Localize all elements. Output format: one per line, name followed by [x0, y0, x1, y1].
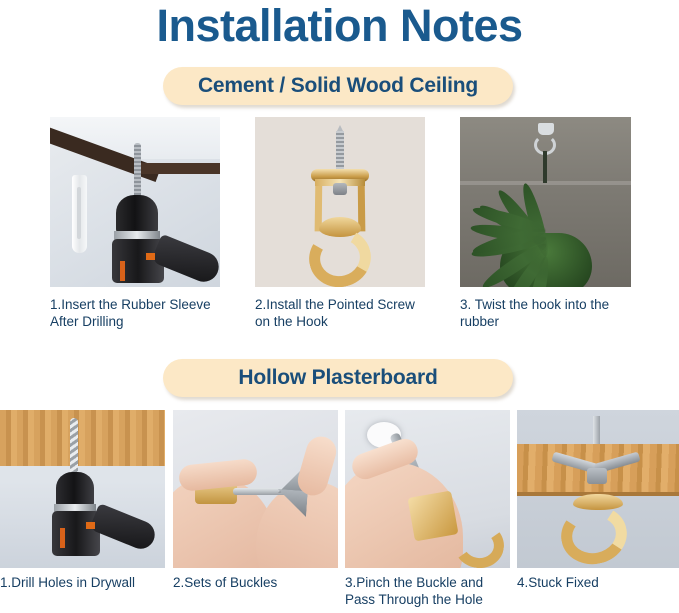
- gold-hook-curve: [556, 500, 633, 568]
- rubber-sleeve: [72, 175, 87, 253]
- step-caption-plasterboard-1: 1.Drill Holes in Drywall: [0, 574, 168, 591]
- plant-hanger-rod: [543, 151, 547, 183]
- step-image-plasterboard-1: [0, 410, 165, 568]
- step-caption-plasterboard-2: 2.Sets of Buckles: [173, 574, 338, 591]
- drill-accent-stripe: [60, 528, 65, 548]
- step-image-plasterboard-4: [517, 410, 679, 568]
- twist-drill-bit: [70, 418, 78, 476]
- drill-accent-stripe: [120, 261, 125, 281]
- step-image-cement-2: [255, 117, 425, 287]
- section-badge-cement-label: Cement / Solid Wood Ceiling: [198, 74, 478, 98]
- screw-bit: [134, 143, 141, 199]
- step-image-cement-1: [50, 117, 220, 287]
- page-title: Installation Notes: [0, 1, 679, 51]
- section-badge-plasterboard-label: Hollow Plasterboard: [238, 366, 437, 390]
- step-image-cement-3: [460, 117, 631, 287]
- drill-chuck: [56, 472, 94, 508]
- gold-hook-curve: [303, 222, 378, 287]
- step-caption-cement-3: 3. Twist the hook into the rubber: [460, 296, 640, 330]
- step-caption-plasterboard-4: 4.Stuck Fixed: [517, 574, 677, 591]
- hook-center-nut: [333, 183, 347, 195]
- step-image-plasterboard-2: [173, 410, 338, 568]
- drill-accent-trigger: [146, 253, 155, 260]
- section-badge-plasterboard: Hollow Plasterboard: [163, 359, 513, 397]
- step-image-plasterboard-3: [345, 410, 510, 568]
- step-caption-cement-1: 1.Insert the Rubber Sleeve After Drillin…: [50, 296, 230, 330]
- section-badge-cement: Cement / Solid Wood Ceiling: [163, 67, 513, 105]
- gold-hook-body: [408, 491, 459, 542]
- hanging-fern: [460, 182, 631, 287]
- ceiling-beam-horizontal: [136, 163, 220, 174]
- drill-accent-trigger: [86, 522, 95, 529]
- toggle-wing-center: [587, 468, 607, 484]
- ceiling-hook-mount: [538, 123, 554, 135]
- drill-chuck: [116, 195, 158, 235]
- step-caption-plasterboard-3: 3.Pinch the Buckle and Pass Through the …: [345, 574, 515, 608]
- wood-ceiling-board: [0, 410, 165, 466]
- step-caption-cement-2: 2.Install the Pointed Screw on the Hook: [255, 296, 430, 330]
